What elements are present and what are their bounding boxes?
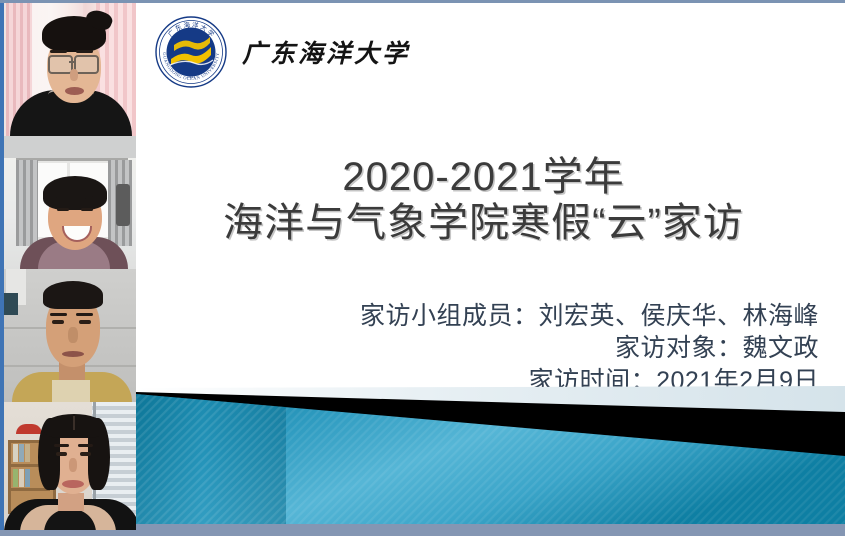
slide-decorative-shapes bbox=[136, 380, 845, 530]
slide-title: 2020-2021学年 海洋与气象学院寒假“云”家访 bbox=[136, 155, 845, 247]
participant-tile-4[interactable] bbox=[0, 402, 136, 533]
university-wordmark: 广东海洋大学 bbox=[242, 34, 410, 70]
participant-tile-3[interactable] bbox=[0, 269, 136, 402]
participant-2-active-border bbox=[0, 136, 136, 269]
guangdong-ocean-university-logo-icon: 广 东 海 洋 大 学 GUANGDONG OCEAN UNIVERSITY 1… bbox=[154, 15, 228, 89]
participant-filmstrip[interactable] bbox=[0, 3, 136, 530]
participant-tile-1[interactable] bbox=[0, 3, 136, 136]
svg-text:1935: 1935 bbox=[187, 74, 195, 79]
participant-1-active-border bbox=[0, 3, 136, 136]
slide-title-line-2: 海洋与气象学院寒假“云”家访 bbox=[136, 200, 831, 247]
slide-title-line-1: 2020-2021学年 bbox=[136, 155, 831, 200]
visit-team-members: 家访小组成员：刘宏英、侯庆华、林海峰 bbox=[136, 300, 819, 332]
shared-screen-slide: 广 东 海 洋 大 学 GUANGDONG OCEAN UNIVERSITY 1… bbox=[136, 3, 845, 530]
participant-3-active-border bbox=[0, 269, 136, 402]
window-bottom-border bbox=[0, 530, 845, 536]
visit-target: 家访对象：魏文政 bbox=[136, 332, 819, 364]
participant-tile-2[interactable] bbox=[0, 136, 136, 269]
participant-4-active-border bbox=[0, 402, 136, 533]
zoom-meeting-window: 广 东 海 洋 大 学 GUANGDONG OCEAN UNIVERSITY 1… bbox=[0, 0, 845, 536]
university-branding: 广 东 海 洋 大 学 GUANGDONG OCEAN UNIVERSITY 1… bbox=[154, 15, 410, 89]
